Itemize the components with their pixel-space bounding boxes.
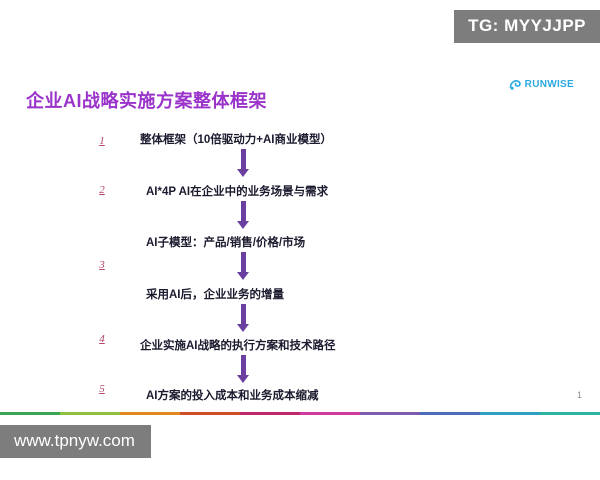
flow-arrow-4 xyxy=(237,304,249,332)
flow-item-2: AI*4P AI在企业中的业务场景与需求 xyxy=(146,183,328,199)
page-title: 企业AI战略实施方案整体框架 xyxy=(26,87,267,113)
step-number-5: 5 xyxy=(96,383,108,395)
color-bar-segment-10 xyxy=(540,412,600,415)
color-bar-segment-7 xyxy=(360,412,420,415)
flow-arrow-1 xyxy=(237,149,249,177)
runwise-logo: RUNWISE xyxy=(509,78,574,91)
flow-arrow-5 xyxy=(237,355,249,383)
runwise-logo-text: RUNWISE xyxy=(525,79,574,90)
color-bar-segment-3 xyxy=(120,412,180,415)
page-number: 1 xyxy=(577,390,582,400)
step-number-2: 2 xyxy=(96,184,108,196)
color-bar-segment-8 xyxy=(420,412,480,415)
flow-item-3: AI子模型：产品/销售/价格/市场 xyxy=(146,234,305,250)
flow-item-4: 采用AI后，企业业务的增量 xyxy=(146,286,284,302)
flow-item-5: 企业实施AI战略的执行方案和技术路径 xyxy=(140,337,336,353)
flow-item-1: 整体框架（10倍驱动力+AI商业模型） xyxy=(140,131,332,147)
telegram-watermark: TG: MYYJJPP xyxy=(454,10,600,43)
color-bar-segment-1 xyxy=(0,412,60,415)
flow-arrow-2 xyxy=(237,201,249,229)
step-number-1: 1 xyxy=(96,135,108,147)
site-watermark: www.tpnyw.com xyxy=(0,425,151,458)
step-number-4: 4 xyxy=(96,333,108,345)
color-bar-segment-5 xyxy=(240,412,300,415)
step-number-3: 3 xyxy=(96,259,108,271)
color-bar-segment-2 xyxy=(60,412,120,415)
color-bar-segment-9 xyxy=(480,412,540,415)
flow-item-6: AI方案的投入成本和业务成本缩减 xyxy=(146,387,319,403)
decorative-color-bar xyxy=(0,412,600,415)
flow-arrow-3 xyxy=(237,252,249,280)
color-bar-segment-4 xyxy=(180,412,240,415)
color-bar-segment-6 xyxy=(300,412,360,415)
runwise-logo-icon xyxy=(509,78,522,91)
slide-canvas: 企业AI战略实施方案整体框架 RUNWISE 1 2 3 4 5 整体框架（10… xyxy=(0,56,600,416)
